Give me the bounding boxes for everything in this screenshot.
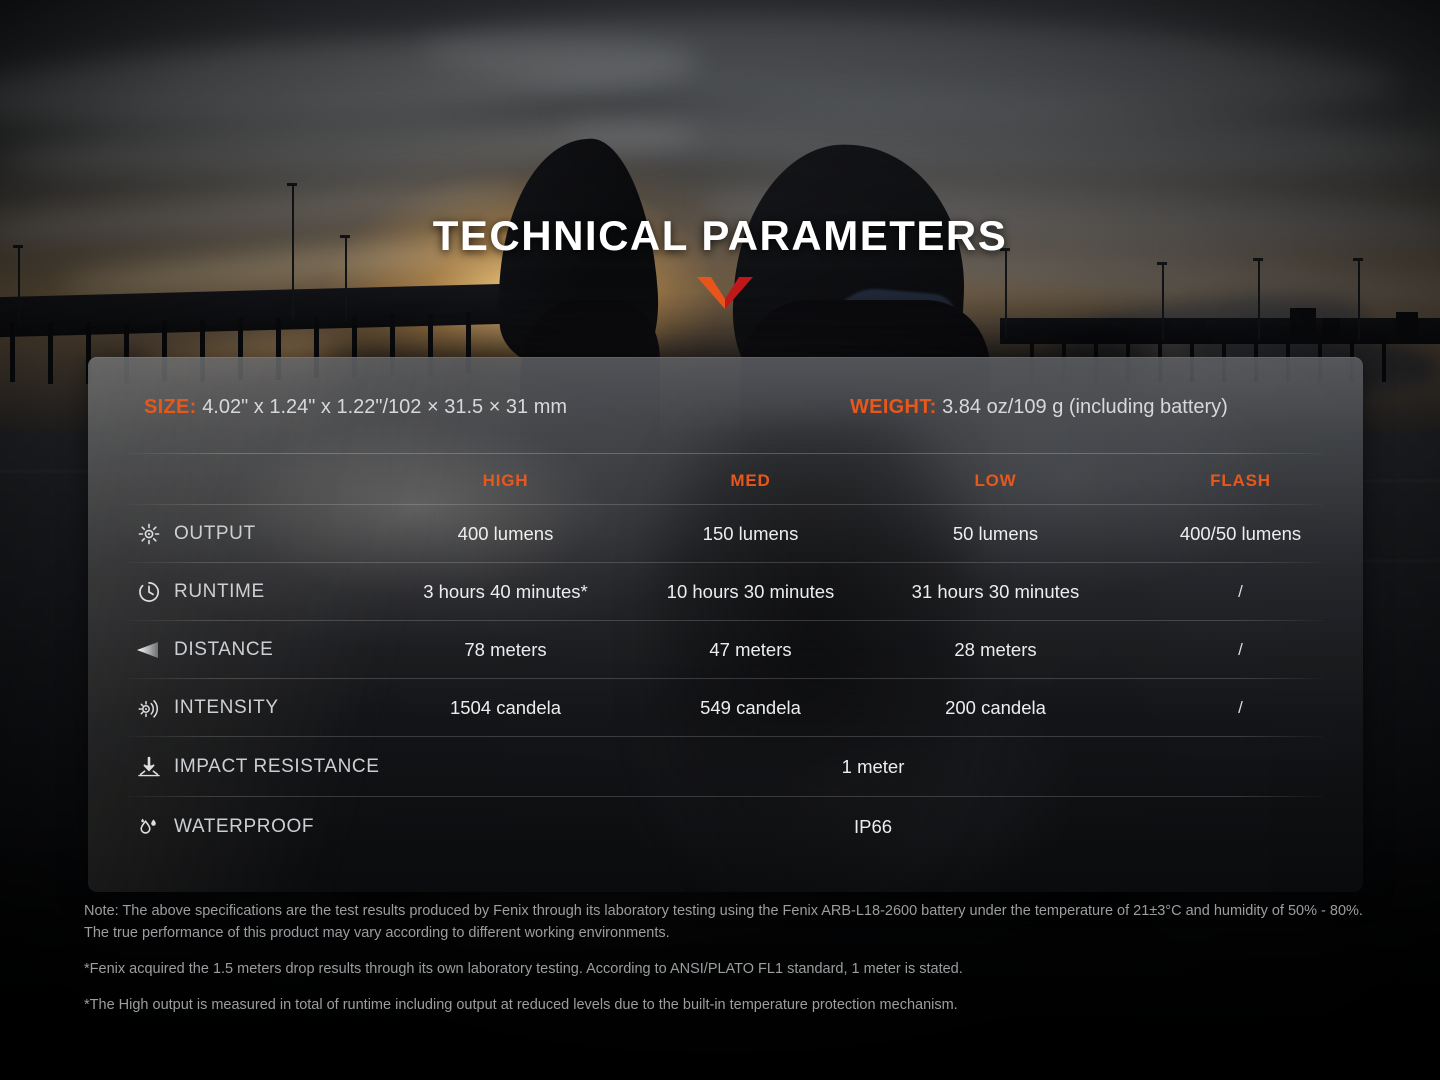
row-label-text: IMPACT RESISTANCE bbox=[174, 756, 380, 778]
cell-runtime-high: 3 hours 40 minutes* bbox=[383, 581, 628, 603]
cloud-band bbox=[559, 93, 1440, 187]
column-header-low: LOW bbox=[873, 471, 1118, 491]
cell-output-flash: 400/50 lumens bbox=[1118, 523, 1363, 545]
weight-value: 3.84 oz/109 g (including battery) bbox=[942, 396, 1228, 418]
row-label-text: INTENSITY bbox=[174, 697, 279, 719]
cell-distance-high: 78 meters bbox=[383, 639, 628, 661]
size-weight-row: SIZE: 4.02" x 1.24" x 1.22"/102 × 31.5 ×… bbox=[88, 385, 1363, 429]
cell-waterproof-value: IP66 bbox=[383, 816, 1363, 838]
spec-table: HIGH MED LOW FLASH OUTPUT bbox=[88, 457, 1363, 857]
cell-distance-low: 28 meters bbox=[873, 639, 1118, 661]
size-spec: SIZE: 4.02" x 1.24" x 1.22"/102 × 31.5 ×… bbox=[144, 396, 567, 419]
light-intensity-icon bbox=[134, 695, 164, 721]
row-label-text: WATERPROOF bbox=[174, 816, 314, 838]
cell-output-med: 150 lumens bbox=[628, 523, 873, 545]
street-lamp bbox=[1157, 262, 1167, 265]
street-lamp bbox=[1005, 248, 1007, 338]
weight-label: WEIGHT: bbox=[850, 396, 937, 418]
size-label: SIZE: bbox=[144, 396, 197, 418]
row-label-output: OUTPUT bbox=[88, 521, 383, 547]
size-value: 4.02" x 1.24" x 1.22"/102 × 31.5 × 31 mm bbox=[202, 396, 567, 418]
table-row: INTENSITY 1504 candela 549 candela 200 c… bbox=[88, 679, 1363, 737]
impact-arrow-icon bbox=[134, 754, 164, 780]
city-skyline bbox=[1396, 312, 1418, 344]
bridge-piling bbox=[1382, 340, 1386, 382]
cell-intensity-high: 1504 candela bbox=[383, 697, 628, 719]
cell-runtime-med: 10 hours 30 minutes bbox=[628, 581, 873, 603]
cell-output-high: 400 lumens bbox=[383, 523, 628, 545]
header-divider bbox=[128, 453, 1323, 454]
cell-impact-resistance-value: 1 meter bbox=[383, 756, 1363, 778]
table-row: DISTANCE 78 meters 47 meters 28 meters / bbox=[88, 621, 1363, 679]
table-row: OUTPUT 400 lumens 150 lumens 50 lumens 4… bbox=[88, 505, 1363, 563]
column-header-high: HIGH bbox=[383, 471, 628, 491]
street-lamp bbox=[287, 183, 297, 186]
street-lamp bbox=[1358, 258, 1360, 340]
row-label-distance: DISTANCE bbox=[88, 637, 383, 663]
column-header-med: MED bbox=[628, 471, 873, 491]
row-label-text: RUNTIME bbox=[174, 581, 265, 603]
bridge-piling bbox=[48, 322, 53, 384]
water-drop-icon bbox=[134, 814, 164, 840]
row-label-waterproof: WATERPROOF bbox=[88, 814, 383, 840]
footnotes: Note: The above specifications are the t… bbox=[84, 900, 1374, 1016]
footnote-high-output: *The High output is measured in total of… bbox=[84, 994, 1374, 1016]
footnote-general: Note: The above specifications are the t… bbox=[84, 900, 1374, 944]
row-label-runtime: RUNTIME bbox=[88, 579, 383, 605]
chevron-down-icon bbox=[697, 277, 753, 309]
cell-output-low: 50 lumens bbox=[873, 523, 1118, 545]
brightness-sun-icon bbox=[134, 521, 164, 547]
page-title: TECHNICAL PARAMETERS bbox=[0, 212, 1440, 260]
row-label-text: OUTPUT bbox=[174, 523, 256, 545]
spec-panel: SIZE: 4.02" x 1.24" x 1.22"/102 × 31.5 ×… bbox=[88, 357, 1363, 892]
cell-intensity-med: 549 candela bbox=[628, 697, 873, 719]
table-header-row: HIGH MED LOW FLASH bbox=[88, 457, 1363, 505]
column-header-flash: FLASH bbox=[1118, 471, 1363, 491]
city-skyline bbox=[1322, 318, 1340, 344]
row-label-impact-resistance: IMPACT RESISTANCE bbox=[88, 754, 383, 780]
clock-icon bbox=[134, 579, 164, 605]
cell-intensity-flash: / bbox=[1118, 698, 1363, 718]
cell-runtime-flash: / bbox=[1118, 582, 1363, 602]
table-row: IMPACT RESISTANCE 1 meter bbox=[88, 737, 1363, 797]
table-row: RUNTIME 3 hours 40 minutes* 10 hours 30 … bbox=[88, 563, 1363, 621]
cell-runtime-low: 31 hours 30 minutes bbox=[873, 581, 1118, 603]
row-label-text: DISTANCE bbox=[174, 639, 273, 661]
beam-distance-icon bbox=[134, 637, 164, 663]
footnote-impact: *Fenix acquired the 1.5 meters drop resu… bbox=[84, 958, 1374, 980]
bridge-piling bbox=[10, 322, 15, 382]
table-row: WATERPROOF IP66 bbox=[88, 797, 1363, 857]
page-root: TECHNICAL PARAMETERS SIZE: 4.02" x 1.24"… bbox=[0, 0, 1440, 1080]
cell-distance-flash: / bbox=[1118, 640, 1363, 660]
city-skyline bbox=[1290, 308, 1316, 344]
cell-intensity-low: 200 candela bbox=[873, 697, 1118, 719]
street-lamp bbox=[1258, 258, 1260, 340]
row-label-intensity: INTENSITY bbox=[88, 695, 383, 721]
cell-distance-med: 47 meters bbox=[628, 639, 873, 661]
street-lamp bbox=[1162, 262, 1164, 340]
weight-spec: WEIGHT: 3.84 oz/109 g (including battery… bbox=[850, 396, 1228, 419]
